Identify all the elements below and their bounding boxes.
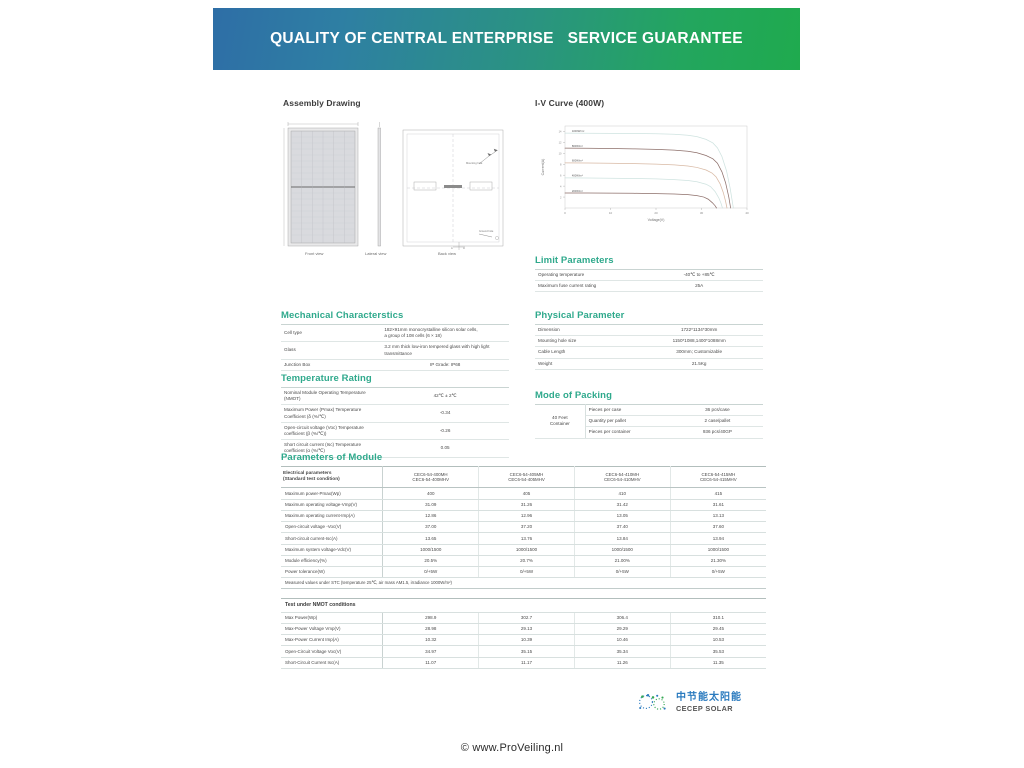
nmot-value: 28.98 <box>383 623 479 634</box>
module-params-value: 0/+5W <box>670 567 766 578</box>
module-params-value: 13.65 <box>383 533 479 544</box>
nmot-table: Test under NMOT conditionsMax Power(Wp)2… <box>281 598 766 669</box>
module-params-value: 410 <box>574 488 670 499</box>
logo-text-cn: 中节能太阳能 <box>676 693 742 704</box>
mode-of-packing-title: Mode of Packing <box>535 390 763 401</box>
module-params-value: 1000/1500 <box>670 544 766 555</box>
mechanical-row: Glass3.2 mm thick low-iron tempered glas… <box>281 342 509 359</box>
svg-text:40: 40 <box>745 211 749 215</box>
svg-text:0: 0 <box>564 211 566 215</box>
nmot-value: 35.53 <box>670 646 766 657</box>
datasheet-body: Assembly Drawing <box>0 70 1024 768</box>
temperature-rating-value: -0.26 <box>381 422 509 439</box>
physical-parameter-value: 1150*1088,1400*1088mm <box>635 336 763 347</box>
module-params-row: Maximum system voltage-Vdc(V)1000/150010… <box>281 544 766 555</box>
temperature-rating-value: -0.34 <box>381 405 509 422</box>
logo-text-en: CECEP SOLAR <box>676 704 742 713</box>
module-params-value: 37.00 <box>383 522 479 533</box>
mechanical-title: Mechanical Characterstics <box>281 310 509 321</box>
module-params-value: 31.09 <box>383 499 479 510</box>
svg-text:Voltage(V): Voltage(V) <box>648 218 665 222</box>
module-params-row: Maximum power-Pmax(Wp)400405410415 <box>281 488 766 499</box>
module-params-row: Maximum operating current-Imp(A)12.8612.… <box>281 510 766 521</box>
module-params-value: 20.7% <box>479 555 575 566</box>
module-params-key: Module efficiency(%) <box>281 555 383 566</box>
module-params-row: Module efficiency(%)20.5%20.7%21.00%21.3… <box>281 555 766 566</box>
module-params-value: 0/+5W <box>383 567 479 578</box>
module-params-note: Measured values under STC (temperature 2… <box>281 578 766 589</box>
module-model-header: CEC6-54-405MH CEC6-54-405MHV <box>479 467 575 488</box>
module-params-value: 20.5% <box>383 555 479 566</box>
packing-key: Quantity per pallet <box>585 416 672 427</box>
temperature-rating-section: Temperature Rating Nominal Module Operat… <box>281 373 509 458</box>
module-params-row: Short-circuit current-Isc(A)13.6513.7613… <box>281 533 766 544</box>
assembly-drawing-canvas: Mounting hole Ground hole AA Front view … <box>283 114 513 264</box>
module-params-row: Open-circuit voltage -Voc(V)37.0037.2037… <box>281 522 766 533</box>
mechanical-row: Junction BoxIP Grade: IP68 <box>281 359 509 370</box>
nmot-value: 35.15 <box>479 646 575 657</box>
assembly-drawing-svg: Mounting hole Ground hole AA <box>283 114 513 264</box>
nmot-value: 298.9 <box>383 612 479 623</box>
iv-curve-chart: 2468101214010203040Voltage(V)Current(A)1… <box>535 120 760 230</box>
nmot-value: 34.97 <box>383 646 479 657</box>
svg-text:A: A <box>451 246 453 250</box>
module-params-row: Maximum operating voltage-Vmp(V)31.0931.… <box>281 499 766 510</box>
svg-text:1000W/m²: 1000W/m² <box>572 129 585 133</box>
nmot-value: 11.26 <box>574 657 670 668</box>
iv-curve-title: I-V Curve (400W) <box>535 98 765 108</box>
nmot-value: 29.29 <box>574 623 670 634</box>
nmot-key: Short-Circuit Current Isc(A) <box>281 657 383 668</box>
iv-curve-svg: 2468101214010203040Voltage(V)Current(A)1… <box>535 120 760 230</box>
physical-parameter-value: 300mm; Customizable <box>635 347 763 358</box>
module-params-note-row: Measured values under STC (temperature 2… <box>281 578 766 589</box>
assembly-view-label-back: Back view <box>438 251 456 256</box>
physical-parameter-key: Mounting hole size <box>535 336 635 347</box>
watermark: © www.ProVeiling.nl <box>0 742 1024 754</box>
module-params-value: 13.05 <box>574 510 670 521</box>
brand-logo: 中节能太阳能 CECEP SOLAR <box>637 692 742 714</box>
nmot-row: Max-Power Current Imp(A)10.3210.3910.461… <box>281 635 766 646</box>
svg-text:10: 10 <box>559 152 562 156</box>
module-params-value: 31.26 <box>479 499 575 510</box>
packing-value: 936 pcs/40GP <box>672 427 763 438</box>
nmot-value: 11.17 <box>479 657 575 668</box>
nmot-value: 35.34 <box>574 646 670 657</box>
limit-parameter-row: Operating temperature-40℃ to +85℃ <box>535 270 763 281</box>
module-params-value: 1000/1500 <box>383 544 479 555</box>
limit-parameter-value: 25A <box>635 281 763 292</box>
module-params-value: 21.00% <box>574 555 670 566</box>
svg-text:10: 10 <box>609 211 613 215</box>
svg-text:4: 4 <box>560 184 562 188</box>
page-title: QUALITY OF CENTRAL ENTERPRISE SERVICE GU… <box>270 30 743 48</box>
mode-of-packing-section: Mode of Packing 40 Feet ContainerPieces … <box>535 390 763 439</box>
temperature-rating-row: Maximum Power (Pmax) Temperature Coeffic… <box>281 405 509 422</box>
nmot-value: 29.13 <box>479 623 575 634</box>
temperature-rating-row: Open-circuit voltage (Voc) Temperature c… <box>281 422 509 439</box>
limit-parameters-title: Limit Parameters <box>535 255 763 266</box>
module-params-key: Power tolerance(W) <box>281 567 383 578</box>
mechanical-value: IP Grade: IP68 <box>381 359 509 370</box>
mechanical-section: Mechanical Characterstics Cell type182×9… <box>281 310 509 371</box>
module-params-value: 13.94 <box>670 533 766 544</box>
nmot-value: 310.1 <box>670 612 766 623</box>
physical-parameter-row: Weight21.5Kg <box>535 358 763 369</box>
limit-parameter-key: Operating temperature <box>535 270 635 281</box>
mechanical-table: Cell type182×91mm monocrystalline silico… <box>281 324 509 371</box>
module-params-value: 415 <box>670 488 766 499</box>
nmot-value: 10.39 <box>479 635 575 646</box>
physical-parameter-title: Physical Parameter <box>535 310 763 321</box>
physical-parameter-row: Dimension1722*1134*30mm <box>535 325 763 336</box>
temperature-rating-title: Temperature Rating <box>281 373 509 384</box>
assembly-view-label-front: Front view <box>305 251 323 256</box>
module-params-key: Maximum operating voltage-Vmp(V) <box>281 499 383 510</box>
nmot-row: Max-Power Voltage Vmp(V)28.9829.1329.292… <box>281 623 766 634</box>
svg-text:600W/m²: 600W/m² <box>572 159 583 163</box>
svg-text:Ground hole: Ground hole <box>479 229 494 233</box>
module-params-key: Maximum operating current-Imp(A) <box>281 510 383 521</box>
cecep-dots-icon <box>637 692 671 714</box>
module-params-key: Short-circuit current-Isc(A) <box>281 533 383 544</box>
svg-text:2: 2 <box>560 195 562 199</box>
module-params-value: 1000/1500 <box>479 544 575 555</box>
module-model-header: CEC6-54-400MH CEC6-54-400MHV <box>383 467 479 488</box>
temperature-rating-table: Nominal Module Operating Temperature (NM… <box>281 387 509 458</box>
nmot-value: 11.35 <box>670 657 766 668</box>
svg-text:800W/m²: 800W/m² <box>572 144 583 148</box>
packing-container-label: 40 Feet Container <box>535 405 585 439</box>
nmot-value: 306.4 <box>574 612 670 623</box>
nmot-value: 29.45 <box>670 623 766 634</box>
assembly-title: Assembly Drawing <box>283 98 513 108</box>
module-model-header: CEC6-54-415MH CEC6-54-415MHV <box>670 467 766 488</box>
svg-text:A: A <box>463 246 465 250</box>
nmot-value: 10.46 <box>574 635 670 646</box>
module-params-value: 13.13 <box>670 510 766 521</box>
svg-text:12: 12 <box>559 141 562 145</box>
nmot-caption: Test under NMOT conditions <box>281 599 766 613</box>
physical-parameter-row: Mounting hole size1150*1088,1400*1088mm <box>535 336 763 347</box>
mechanical-row: Cell type182×91mm monocrystalline silico… <box>281 325 509 342</box>
nmot-section: Test under NMOT conditionsMax Power(Wp)2… <box>281 598 766 669</box>
module-params-header-row: Electrical parameters (Standard test con… <box>281 467 766 488</box>
limit-parameters-section: Limit Parameters Operating temperature-4… <box>535 255 763 292</box>
nmot-key: Max-Power Current Imp(A) <box>281 635 383 646</box>
module-params-value: 13.76 <box>479 533 575 544</box>
nmot-key: Max Power(Wp) <box>281 612 383 623</box>
module-params-value: 405 <box>479 488 575 499</box>
module-params-value: 37.20 <box>479 522 575 533</box>
module-params-value: 0/+5W <box>479 567 575 578</box>
physical-parameter-table: Dimension1722*1134*30mmMounting hole siz… <box>535 324 763 370</box>
limit-parameter-row: Maximum fuse current rating25A <box>535 281 763 292</box>
svg-text:Current(A): Current(A) <box>541 159 545 176</box>
header-banner: QUALITY OF CENTRAL ENTERPRISE SERVICE GU… <box>213 8 800 70</box>
assembly-drawing-section: Assembly Drawing <box>283 98 513 264</box>
temperature-rating-key: Open-circuit voltage (Voc) Temperature c… <box>281 422 381 439</box>
svg-text:Mounting hole: Mounting hole <box>466 161 483 165</box>
module-params-key: Maximum power-Pmax(Wp) <box>281 488 383 499</box>
module-model-header: CEC6-54-410MH CEC6-54-410MHV <box>574 467 670 488</box>
module-params-row: Power tolerance(W)0/+5W0/+5W0/+5W0/+5W <box>281 567 766 578</box>
mode-of-packing-table: 40 Feet ContainerPieces per case36 pcs/c… <box>535 404 763 439</box>
module-params-value: 21.30% <box>670 555 766 566</box>
module-params-key: Open-circuit voltage -Voc(V) <box>281 522 383 533</box>
mechanical-value: 3.2 mm thick low-iron tempered glass wit… <box>381 342 509 359</box>
physical-parameter-key: Cable Length <box>535 347 635 358</box>
module-params-value: 37.40 <box>574 522 670 533</box>
assembly-view-label-lateral: Lateral view <box>365 251 386 256</box>
module-params-header-label: Electrical parameters (Standard test con… <box>281 467 383 488</box>
nmot-value: 10.53 <box>670 635 766 646</box>
parameters-of-module-table: Electrical parameters (Standard test con… <box>281 466 766 589</box>
module-params-key: Maximum system voltage-Vdc(V) <box>281 544 383 555</box>
nmot-row: Open-Circuit Voltage Voc(V)34.9735.1535.… <box>281 646 766 657</box>
temperature-rating-row: Nominal Module Operating Temperature (NM… <box>281 388 509 405</box>
nmot-key: Max-Power Voltage Vmp(V) <box>281 623 383 634</box>
physical-parameter-key: Weight <box>535 358 635 369</box>
svg-text:8: 8 <box>560 162 562 166</box>
iv-curve-section: I-V Curve (400W) 2468101214010203040Volt… <box>535 98 765 230</box>
nmot-row: Max Power(Wp)298.9302.7306.4310.1 <box>281 612 766 623</box>
nmot-value: 302.7 <box>479 612 575 623</box>
svg-text:400W/m²: 400W/m² <box>572 174 583 178</box>
nmot-row: Short-Circuit Current Isc(A)11.0711.1711… <box>281 657 766 668</box>
nmot-value: 10.32 <box>383 635 479 646</box>
parameters-of-module-title: Parameters of Module <box>281 452 766 463</box>
nmot-key: Open-Circuit Voltage Voc(V) <box>281 646 383 657</box>
mechanical-key: Junction Box <box>281 359 381 370</box>
mechanical-key: Glass <box>281 342 381 359</box>
mechanical-key: Cell type <box>281 325 381 342</box>
packing-key: Pieces per container <box>585 427 672 438</box>
physical-parameter-value: 1722*1134*30mm <box>635 325 763 336</box>
module-params-value: 1000/1500 <box>574 544 670 555</box>
packing-key: Pieces per case <box>585 405 672 416</box>
limit-parameters-table: Operating temperature-40℃ to +85℃Maximum… <box>535 269 763 292</box>
physical-parameter-value: 21.5Kg <box>635 358 763 369</box>
svg-text:6: 6 <box>560 173 562 177</box>
limit-parameter-key: Maximum fuse current rating <box>535 281 635 292</box>
module-params-value: 13.84 <box>574 533 670 544</box>
packing-value: 36 pcs/case <box>672 405 763 416</box>
physical-parameter-section: Physical Parameter Dimension1722*1134*30… <box>535 310 763 370</box>
svg-text:14: 14 <box>559 130 562 134</box>
limit-parameter-value: -40℃ to +85℃ <box>635 270 763 281</box>
packing-value: 2 case/pallet <box>672 416 763 427</box>
temperature-rating-key: Maximum Power (Pmax) Temperature Coeffic… <box>281 405 381 422</box>
module-params-value: 12.96 <box>479 510 575 521</box>
module-params-value: 31.42 <box>574 499 670 510</box>
module-params-value: 37.60 <box>670 522 766 533</box>
nmot-caption-row: Test under NMOT conditions <box>281 599 766 613</box>
module-params-value: 12.86 <box>383 510 479 521</box>
physical-parameter-row: Cable Length300mm; Customizable <box>535 347 763 358</box>
packing-row: 40 Feet ContainerPieces per case36 pcs/c… <box>535 405 763 416</box>
svg-text:20: 20 <box>654 211 658 215</box>
module-params-value: 400 <box>383 488 479 499</box>
module-params-value: 31.61 <box>670 499 766 510</box>
nmot-value: 11.07 <box>383 657 479 668</box>
svg-text:30: 30 <box>700 211 704 215</box>
parameters-of-module-section: Parameters of Module Electrical paramete… <box>281 452 766 589</box>
temperature-rating-key: Nominal Module Operating Temperature (NM… <box>281 388 381 405</box>
physical-parameter-key: Dimension <box>535 325 635 336</box>
mechanical-value: 182×91mm monocrystalline silicon solar c… <box>381 325 509 342</box>
temperature-rating-value: 42℃ ± 2℃ <box>381 388 509 405</box>
svg-text:200W/m²: 200W/m² <box>572 189 583 193</box>
module-params-value: 0/+5W <box>574 567 670 578</box>
